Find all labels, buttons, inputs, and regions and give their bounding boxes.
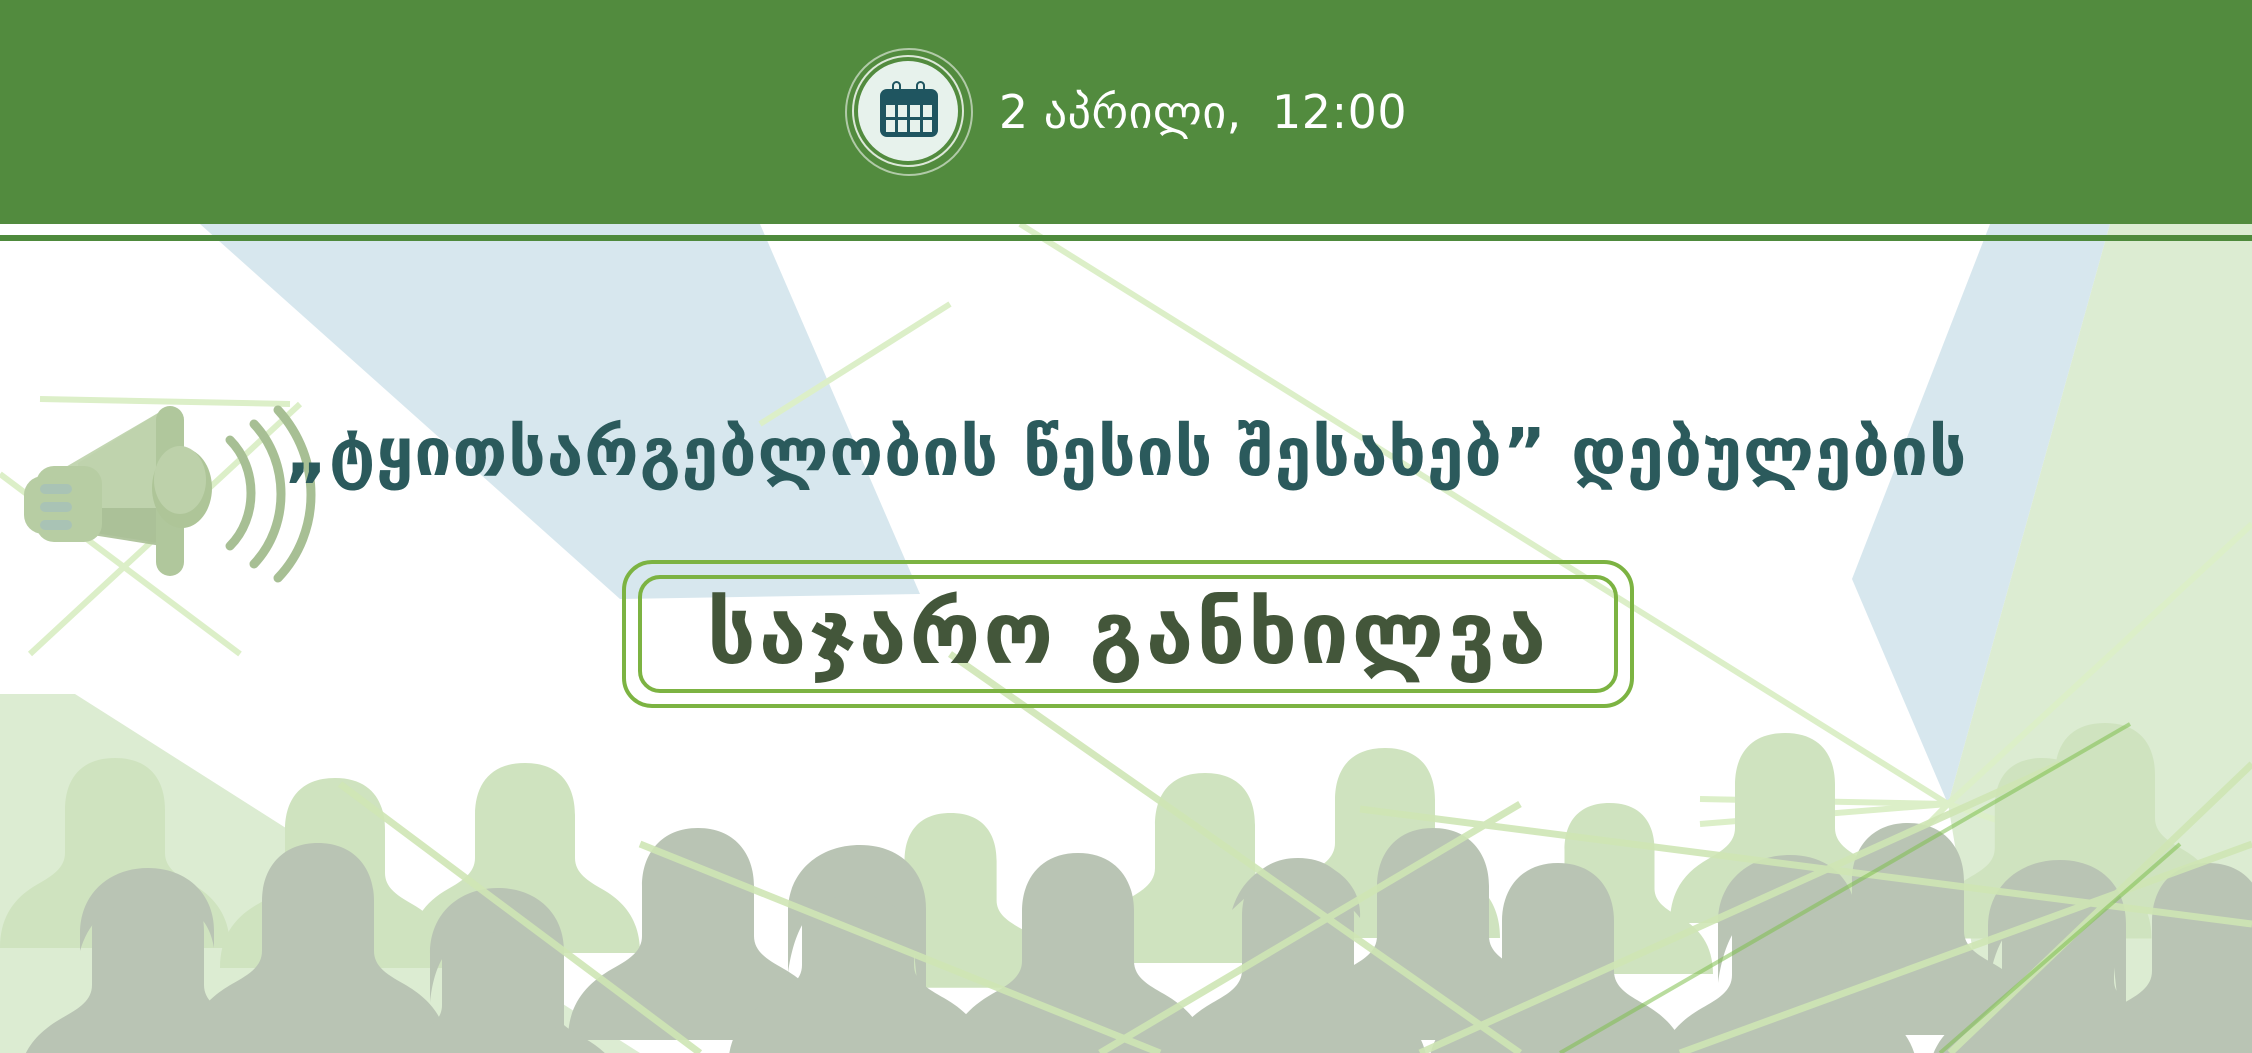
calendar-icon	[845, 48, 973, 176]
title-box: საჯარო განხილვა	[622, 560, 1634, 708]
megaphone-icon	[6, 368, 336, 618]
announcement-banner: 2 აპრილი, 12:00 „ტყითსარგებლობის წესის შ…	[0, 0, 2252, 1053]
header-separator	[0, 235, 2252, 241]
title-box-label: საჯარო განხილვა	[707, 591, 1549, 677]
calendar-glyph	[880, 81, 938, 137]
green-polygon-bottom-left	[0, 694, 640, 1053]
event-datetime: 2 აპრილი, 12:00	[999, 89, 1407, 135]
title-box-inner-border: საჯარო განხილვა	[638, 575, 1618, 693]
calendar-grid	[886, 105, 932, 132]
page-title: „ტყითსარგებლობის წესის შესახებ” დებულები…	[0, 418, 2252, 487]
top-date-bar: 2 აპრილი, 12:00	[0, 0, 2252, 224]
